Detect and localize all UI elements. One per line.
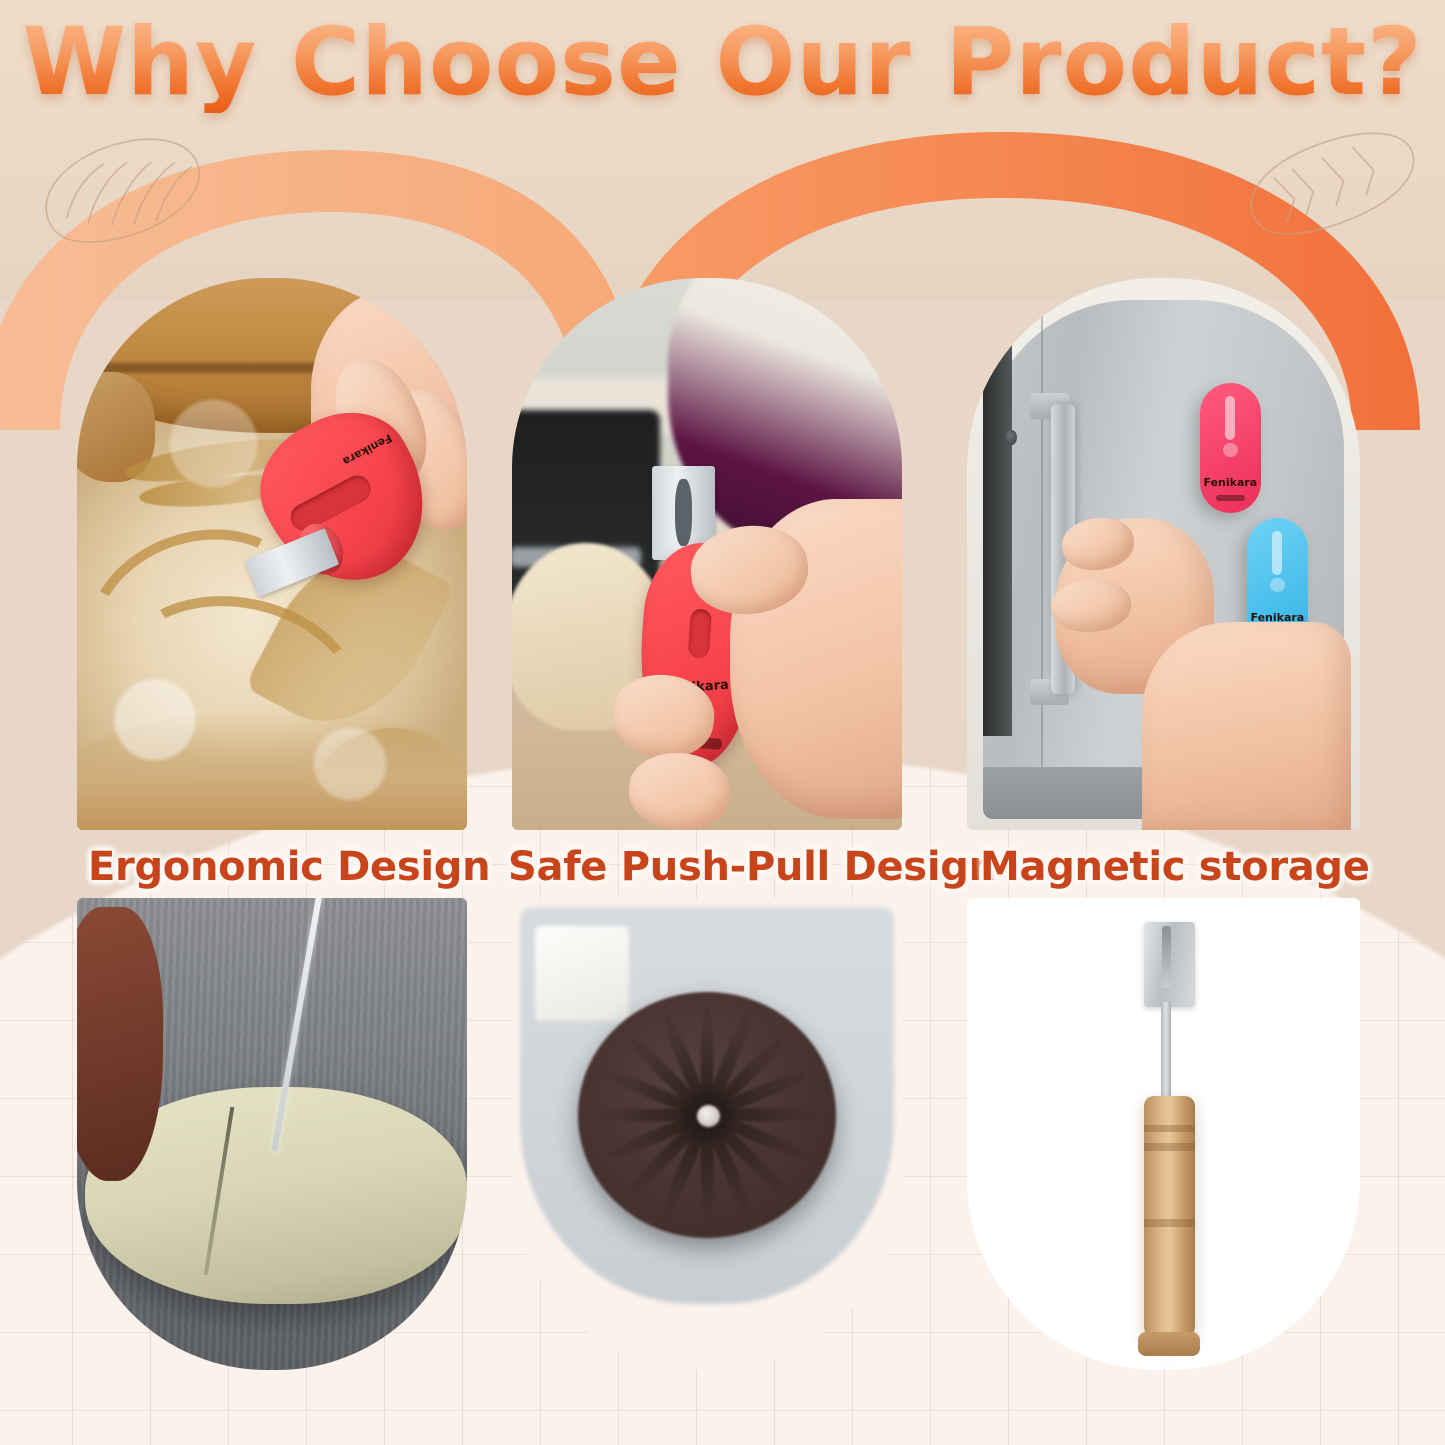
magnet-brand-label-pink: Fenikara bbox=[1200, 476, 1261, 489]
caption-ergonomic-design: Ergonomic Design bbox=[88, 844, 490, 890]
feature-image-ergonomic-design: Fenikara bbox=[77, 278, 467, 830]
feature-image-safe-push-pull-design: Fenikara bbox=[512, 278, 902, 830]
gallery-image-dough-scoring bbox=[77, 898, 467, 1370]
bread-stamp bbox=[578, 992, 835, 1237]
page-title-text: Why Choose Our Product? bbox=[22, 14, 1422, 113]
gallery-image-wooden-lame-tool bbox=[967, 898, 1360, 1370]
hand bbox=[77, 907, 163, 1181]
product-magnet-pink: Fenikara bbox=[1200, 383, 1261, 513]
poster-root: Why Choose Our Product? Why Choose Our P… bbox=[0, 0, 1445, 1445]
caption-magnetic-storage: Magnetic storage bbox=[980, 844, 1370, 890]
page-title: Why Choose Our Product? Why Choose Our P… bbox=[0, 14, 1445, 134]
tool-brand-label: Fenikara bbox=[341, 431, 395, 468]
feature-image-magnetic-storage: Fenikara Fenikara bbox=[967, 278, 1360, 830]
gallery-image-bread-stamp bbox=[512, 898, 902, 1370]
caption-safe-push-pull-design: Safe Push-Pull Design bbox=[508, 844, 997, 890]
